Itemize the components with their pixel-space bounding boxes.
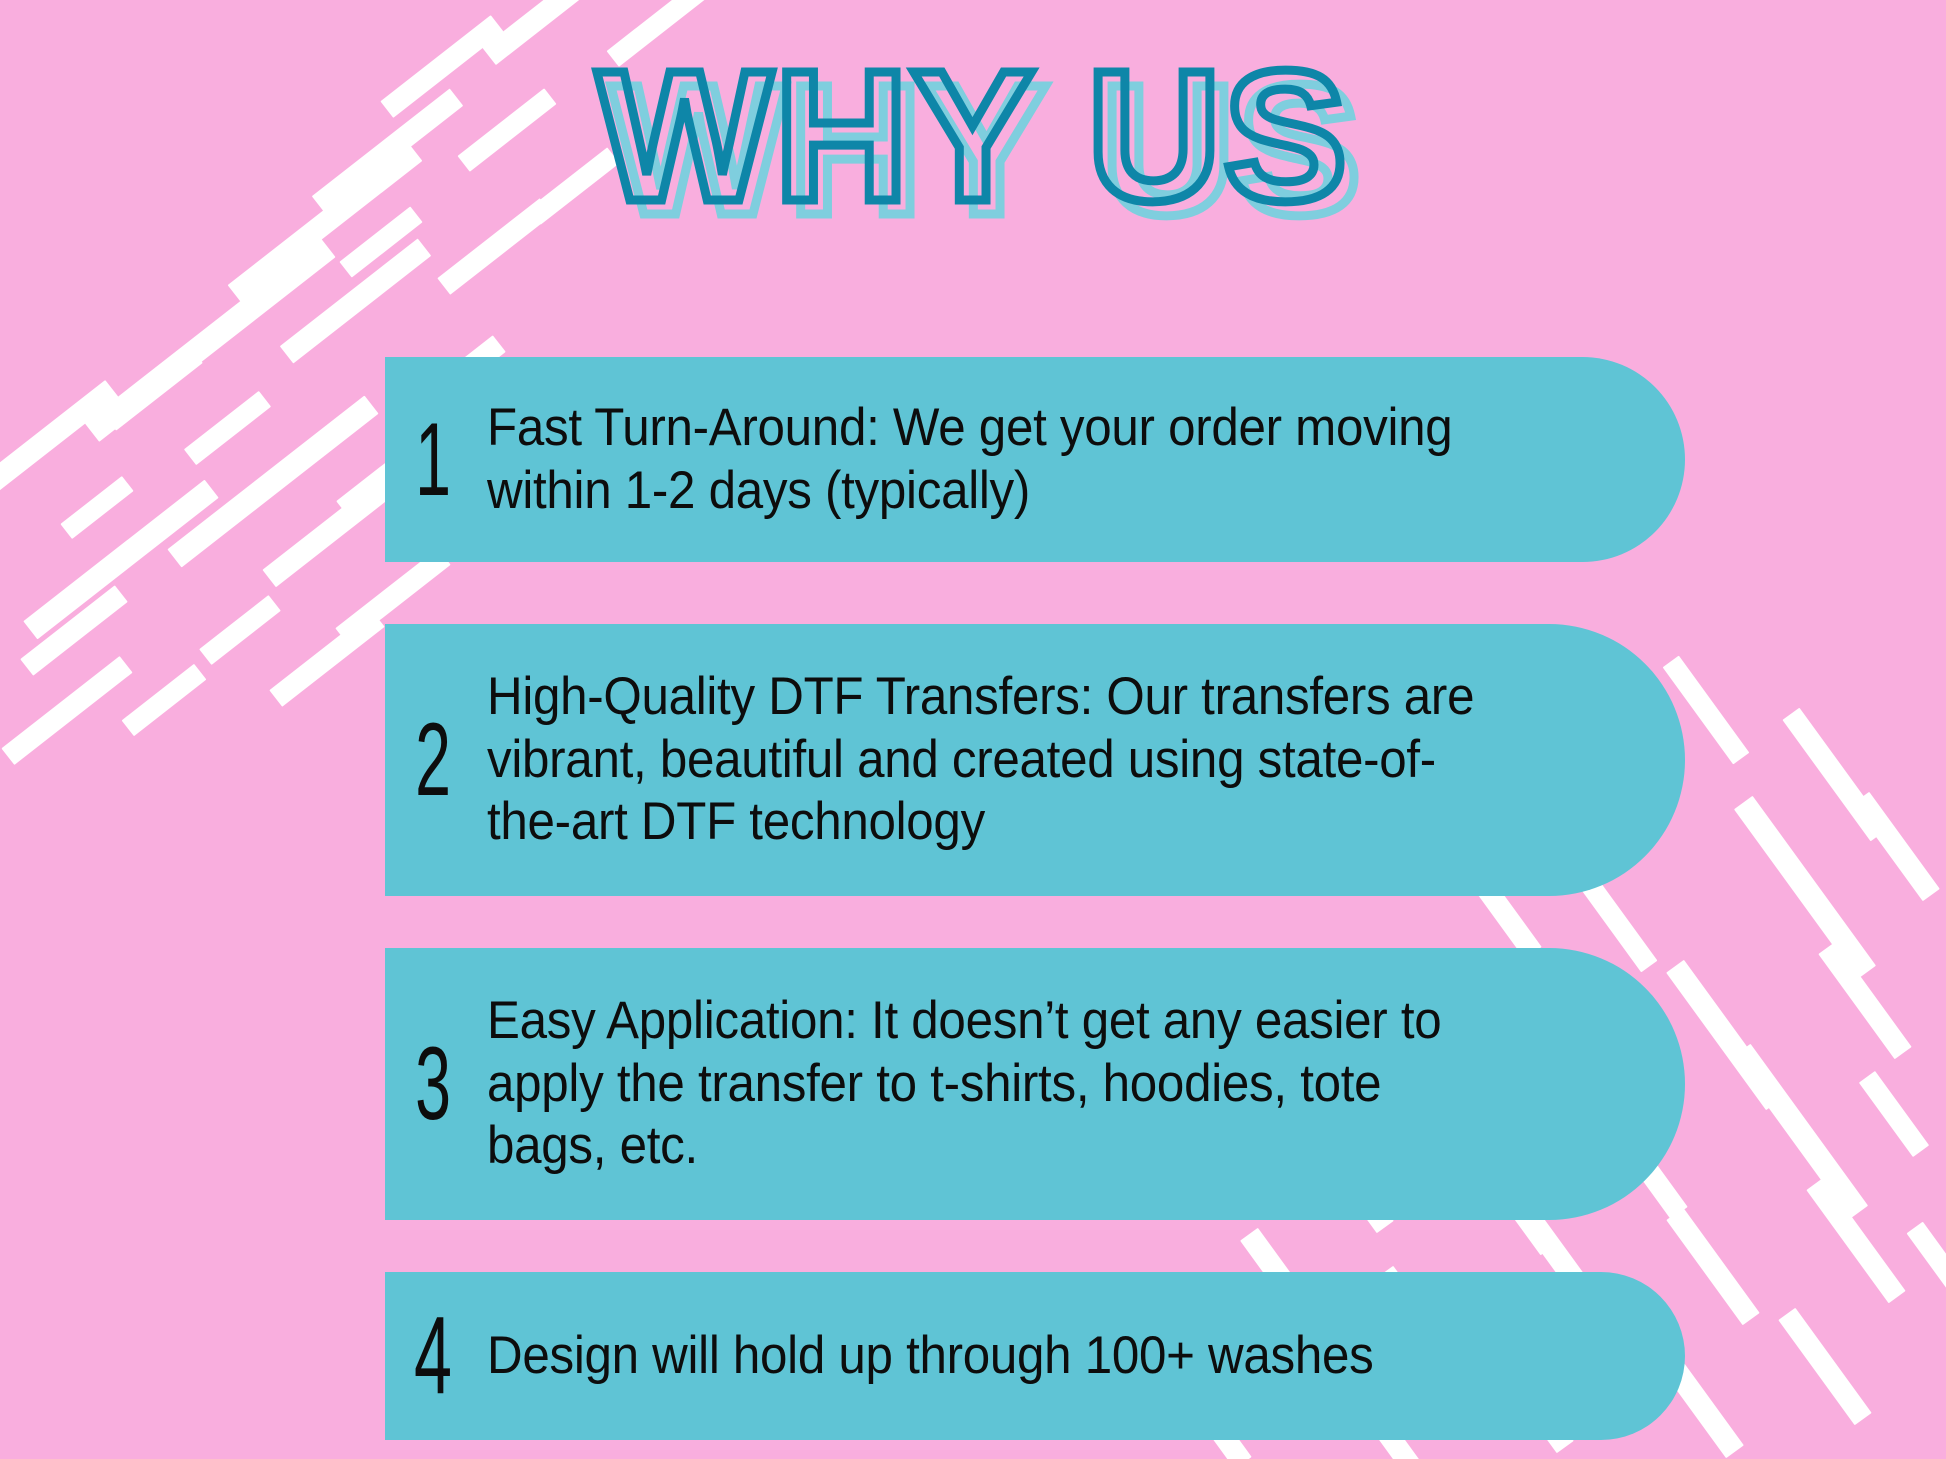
decorative-dash: [280, 238, 431, 363]
benefits-list: 1 Fast Turn-Around: We get your order mo…: [385, 357, 1685, 1440]
benefit-text-3: Easy Application: It doesn’t get any eas…: [487, 990, 1490, 1178]
decorative-dash: [84, 238, 335, 442]
decorative-dash: [60, 476, 133, 539]
decorative-dash: [167, 395, 378, 567]
benefit-item-3: 3 Easy Application: It doesn’t get any e…: [385, 948, 1685, 1220]
page-title: WHY US WHY US: [0, 42, 1946, 232]
decorative-dash: [20, 585, 127, 675]
decorative-dash: [1778, 1308, 1871, 1426]
decorative-dash: [1907, 1222, 1946, 1323]
title-outline-layer: WHY US: [0, 42, 1946, 232]
benefit-number-2: 2: [400, 708, 467, 812]
benefit-item-2: 2 High-Quality DTF Transfers: Our transf…: [385, 624, 1685, 896]
decorative-dash: [1818, 942, 1911, 1060]
decorative-dash: [1, 656, 132, 765]
benefit-item-4: 4 Design will hold up through 100+ washe…: [385, 1272, 1685, 1440]
decorative-dash: [1734, 796, 1876, 979]
decorative-dash: [184, 391, 271, 465]
benefit-number-1: 1: [400, 408, 467, 512]
benefit-item-1: 1 Fast Turn-Around: We get your order mo…: [385, 357, 1685, 562]
decorative-dash: [1732, 1044, 1868, 1219]
decorative-dash: [1782, 708, 1887, 842]
decorative-dash: [103, 346, 203, 430]
decorative-dash: [1852, 792, 1940, 901]
decorative-dash: [199, 595, 281, 665]
benefit-number-3: 3: [400, 1032, 467, 1136]
benefit-text-2: High-Quality DTF Transfers: Our transfer…: [487, 666, 1490, 854]
benefit-number-4: 4: [400, 1301, 467, 1411]
poster-canvas: WHY US WHY US 1 Fast Turn-Around: We get…: [0, 0, 1946, 1459]
benefit-text-1: Fast Turn-Around: We get your order movi…: [487, 397, 1490, 522]
decorative-dash: [1859, 1071, 1929, 1157]
decorative-dash: [1806, 1178, 1905, 1304]
decorative-dash: [23, 480, 218, 640]
benefit-text-4: Design will hold up through 100+ washes: [487, 1325, 1490, 1388]
decorative-dash: [269, 610, 384, 707]
decorative-dash: [0, 380, 119, 502]
decorative-dash: [122, 664, 207, 736]
